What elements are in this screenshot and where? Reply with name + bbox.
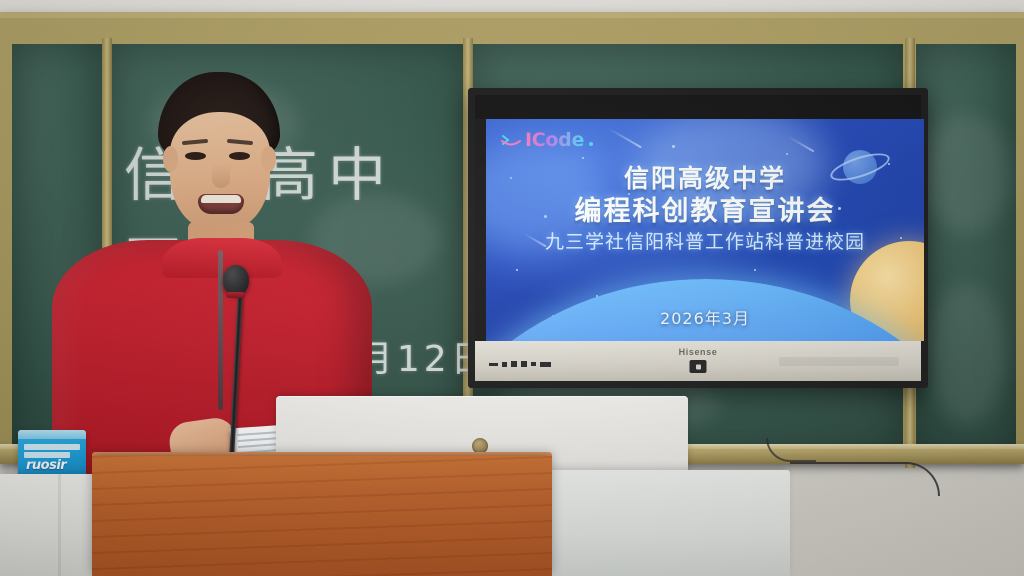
display-brand-label: Hisense <box>679 347 718 357</box>
podium-wood-grain <box>92 456 552 576</box>
slide-title-line-2: 编程科创教育宣讲会 <box>486 195 924 229</box>
wooden-podium <box>92 456 552 576</box>
person-eye-left <box>185 152 206 160</box>
slide-text-block: 信阳高级中学 编程科创教育宣讲会 九三学社信阳科普工作站科普进校园 <box>486 163 924 255</box>
icode-logo: ICode <box>500 129 593 151</box>
chalk-box-lid <box>18 430 86 439</box>
microphone-head <box>223 265 249 295</box>
display-port-strip[interactable] <box>489 361 551 367</box>
display-ir-sensor-strip <box>779 357 899 366</box>
chalk-box-brand-text: ruosir <box>26 458 66 473</box>
white-cabinet-edge <box>58 474 61 576</box>
display-cable <box>790 462 940 496</box>
speaker-cabinet <box>540 470 790 576</box>
hisense-smart-display[interactable]: ICode 信阳高级中学 编程科创教育宣讲会 九三学社信阳科普工作站科普进校园 … <box>468 88 928 388</box>
person-ear-right <box>261 146 276 172</box>
person-ear-left <box>163 146 178 172</box>
display-top-bezel <box>475 95 921 119</box>
slide-title-line-1: 信阳高级中学 <box>486 163 924 195</box>
person-teeth <box>201 195 241 203</box>
microphone-ring <box>226 292 245 298</box>
icode-logo-text: ICode <box>525 129 584 151</box>
photo-scene: 信阳高中 团 3月12日 <box>0 0 1024 576</box>
slide-date: 2026年3月 <box>486 305 924 329</box>
icode-logo-dot <box>589 142 593 146</box>
person-nose <box>212 164 230 188</box>
slide-subtitle: 九三学社信阳科普工作站科普进校园 <box>486 229 924 255</box>
person-eye-right <box>229 152 250 160</box>
display-power-button[interactable] <box>690 360 707 373</box>
icode-mark-icon <box>500 132 522 148</box>
presentation-slide: ICode 信阳高级中学 编程科创教育宣讲会 九三学社信阳科普工作站科普进校园 … <box>486 119 924 341</box>
blackboard-panel-right <box>916 44 1016 462</box>
display-bottom-bezel: Hisense <box>475 341 921 381</box>
person-jacket-zipper <box>218 250 223 410</box>
